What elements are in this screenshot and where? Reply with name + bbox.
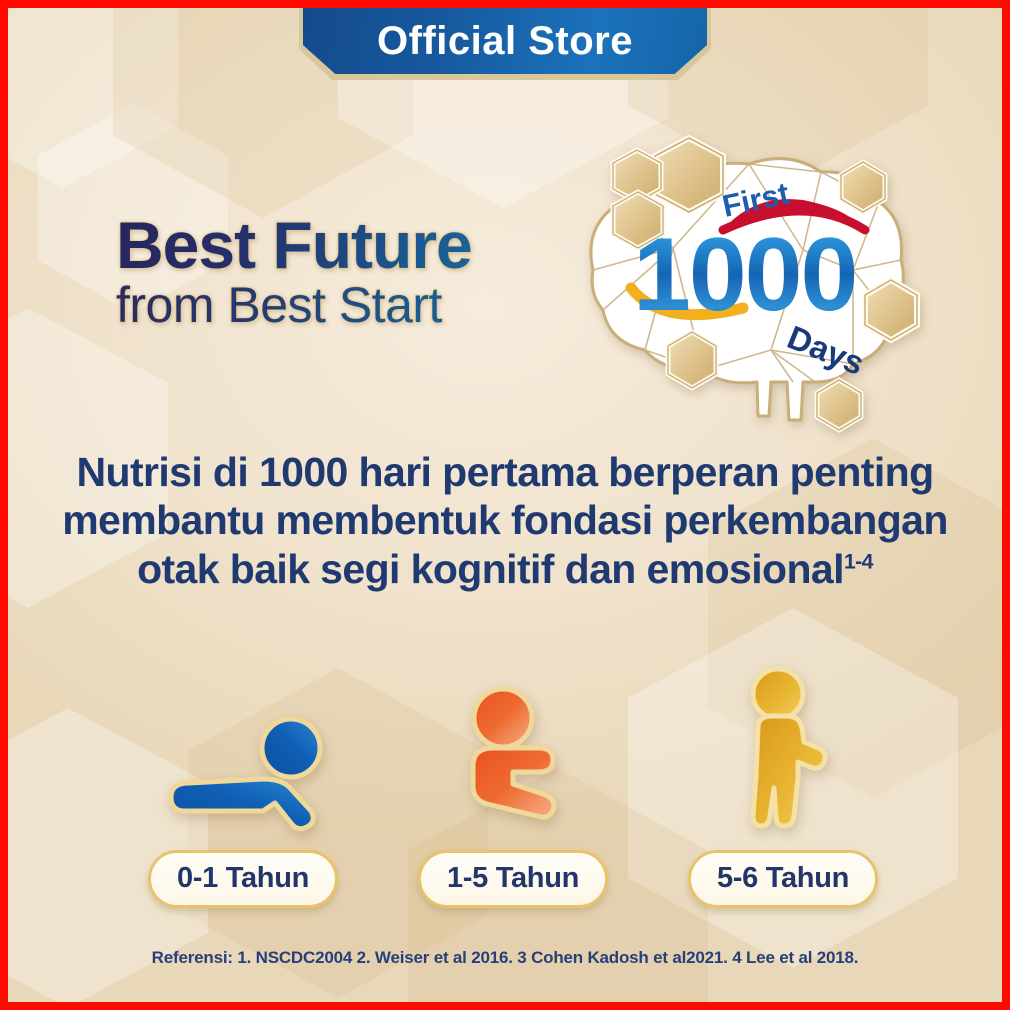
sitting-toddler-icon — [451, 661, 576, 836]
official-store-ribbon: Official Store — [299, 8, 711, 80]
svg-text:1000: 1000 — [633, 217, 856, 333]
page-title: Best Future from Best Start — [116, 213, 566, 331]
official-store-label: Official Store — [377, 21, 633, 61]
crawling-baby-icon — [151, 661, 336, 836]
body-paragraph: Nutrisi di 1000 hari pertama berperan pe… — [58, 448, 952, 593]
body-paragraph-text: Nutrisi di 1000 hari pertama berperan pe… — [62, 449, 948, 592]
age-group-5-6: 5-6 Tahun — [658, 661, 908, 908]
headline-line-1: Best Future — [116, 213, 566, 278]
age-group-label-5-6: 5-6 Tahun — [688, 850, 878, 908]
age-group-label-1-5: 1-5 Tahun — [418, 850, 608, 908]
references-text: Referensi: 1. NSCDC2004 2. Weiser et al … — [8, 948, 1002, 968]
headline-line-2: from Best Start — [116, 280, 566, 331]
age-group-label-0-1: 0-1 Tahun — [148, 850, 338, 908]
poster-canvas: Official Store Best Future from Best Sta… — [8, 8, 1002, 1002]
age-group-row: 0-1 Tahun — [118, 663, 908, 908]
age-group-0-1: 0-1 Tahun — [118, 661, 368, 908]
body-superscript: 1-4 — [844, 549, 873, 573]
standing-child-icon — [728, 661, 838, 836]
age-group-1-5: 1-5 Tahun — [388, 661, 638, 908]
poster-frame: Official Store Best Future from Best Sta… — [0, 0, 1010, 1010]
ribbon-inner: Official Store — [303, 8, 707, 74]
first-1000-days-brain-logo: First 1000 Days — [553, 120, 923, 440]
